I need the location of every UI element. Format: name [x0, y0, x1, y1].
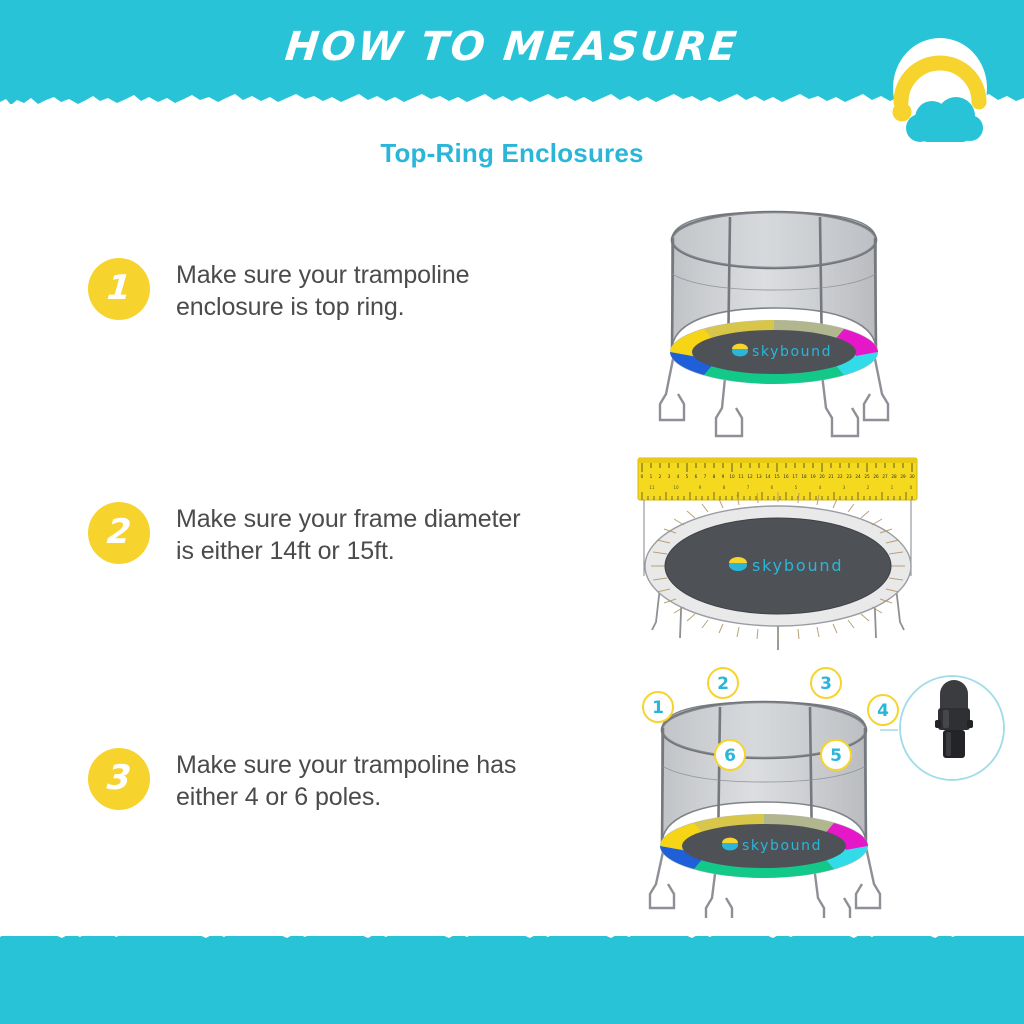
footer-band — [0, 936, 1024, 1024]
svg-text:skybound: skybound — [752, 344, 832, 360]
svg-text:4: 4 — [677, 474, 680, 479]
svg-text:11: 11 — [738, 474, 744, 479]
svg-text:23: 23 — [846, 474, 852, 479]
svg-text:11: 11 — [649, 485, 655, 490]
svg-text:2: 2 — [659, 474, 662, 479]
step-item-2: 2 Make sure your frame diameter is eithe… — [88, 502, 588, 567]
pole-callout-6: 6 — [715, 740, 745, 770]
svg-text:14: 14 — [765, 474, 771, 479]
step-number-1: 1 — [85, 258, 152, 320]
step-text-2-line1: Make sure your frame diameter — [176, 505, 520, 533]
svg-text:29: 29 — [900, 474, 906, 479]
pole-callout-2: 2 — [708, 668, 738, 698]
svg-text:3: 3 — [843, 485, 846, 490]
pole-callout-2-label: 2 — [717, 674, 729, 694]
step-item-1: 1 Make sure your trampoline enclosure is… — [88, 258, 588, 323]
svg-text:9: 9 — [699, 485, 702, 490]
pole-callout-5-label: 5 — [830, 746, 842, 766]
step-number-badge-1: 1 — [88, 258, 150, 320]
svg-text:22: 22 — [837, 474, 843, 479]
pole-callout-4-label: 4 — [877, 701, 889, 721]
pole-callout-5: 5 — [821, 740, 851, 770]
svg-text:27: 27 — [882, 474, 888, 479]
svg-text:21: 21 — [828, 474, 834, 479]
svg-text:28: 28 — [891, 474, 897, 479]
step-number-2: 2 — [85, 502, 152, 564]
step-text-1-line2: enclosure is top ring. — [176, 292, 469, 324]
illustration-trampoline-pole-count: skybound 1 — [630, 660, 1020, 920]
pole-callout-3-label: 3 — [820, 674, 832, 694]
svg-text:26: 26 — [873, 474, 879, 479]
svg-text:18: 18 — [801, 474, 807, 479]
svg-text:1: 1 — [891, 485, 894, 490]
illustration-trampoline-top-ring: skybound — [630, 208, 920, 448]
trampoline-frame: skybound — [645, 492, 911, 650]
section-subtitle: Top-Ring Enclosures — [0, 138, 1024, 169]
svg-text:17: 17 — [792, 474, 798, 479]
svg-text:9: 9 — [722, 474, 725, 479]
svg-text:7: 7 — [747, 485, 750, 490]
svg-text:0: 0 — [641, 474, 644, 479]
step-text-1-line1: Make sure your trampoline — [176, 261, 469, 289]
infographic-page: HOW TO MEASURE Top-Ring Enclosures 1 Mak… — [0, 0, 1024, 1024]
skybound-sun-cloud-logo — [880, 36, 1000, 146]
svg-text:2: 2 — [867, 485, 870, 490]
step-text-3-line2: either 4 or 6 poles. — [176, 782, 516, 814]
header-band: HOW TO MEASURE — [0, 0, 1024, 104]
step-text-2-line2: is either 14ft or 15ft. — [176, 536, 520, 568]
svg-text:15: 15 — [774, 474, 780, 479]
svg-text:4: 4 — [819, 485, 822, 490]
svg-text:25: 25 — [864, 474, 870, 479]
step-text-3-line1: Make sure your trampoline has — [176, 751, 516, 779]
svg-text:8: 8 — [713, 474, 716, 479]
pole-callout-1-label: 1 — [652, 698, 664, 718]
svg-text:20: 20 — [819, 474, 825, 479]
step-number-badge-3: 3 — [88, 748, 150, 810]
step-item-3: 3 Make sure your trampoline has either 4… — [88, 748, 588, 813]
svg-text:13: 13 — [756, 474, 762, 479]
svg-text:6: 6 — [771, 485, 774, 490]
pole-callout-6-label: 6 — [724, 746, 736, 766]
svg-text:7: 7 — [704, 474, 707, 479]
illustration-frame-diameter-ruler: 012 345 678 91011 121314 151617 181920 2… — [630, 452, 925, 664]
page-title: HOW TO MEASURE — [0, 24, 1024, 70]
svg-text:24: 24 — [855, 474, 861, 479]
pole-callout-3: 3 — [811, 668, 841, 698]
pole-cap-detail — [900, 676, 1004, 780]
svg-text:skybound: skybound — [742, 838, 822, 854]
svg-text:5: 5 — [795, 485, 798, 490]
svg-text:5: 5 — [686, 474, 689, 479]
svg-text:0: 0 — [910, 485, 913, 490]
step-text-1: Make sure your trampoline enclosure is t… — [176, 258, 469, 323]
svg-text:10: 10 — [729, 474, 735, 479]
pole-callout-4: 4 — [868, 695, 898, 725]
svg-text:10: 10 — [673, 485, 679, 490]
svg-text:30: 30 — [909, 474, 915, 479]
svg-text:12: 12 — [747, 474, 753, 479]
step-text-2: Make sure your frame diameter is either … — [176, 502, 520, 567]
svg-text:19: 19 — [810, 474, 816, 479]
step-number-3: 3 — [85, 748, 152, 810]
svg-text:16: 16 — [783, 474, 789, 479]
svg-text:8: 8 — [723, 485, 726, 490]
step-number-badge-2: 2 — [88, 502, 150, 564]
svg-text:1: 1 — [650, 474, 653, 479]
step-text-3: Make sure your trampoline has either 4 o… — [176, 748, 516, 813]
svg-text:3: 3 — [668, 474, 671, 479]
svg-text:6: 6 — [695, 474, 698, 479]
svg-text:skybound: skybound — [752, 556, 843, 575]
pole-callout-1: 1 — [643, 692, 673, 722]
